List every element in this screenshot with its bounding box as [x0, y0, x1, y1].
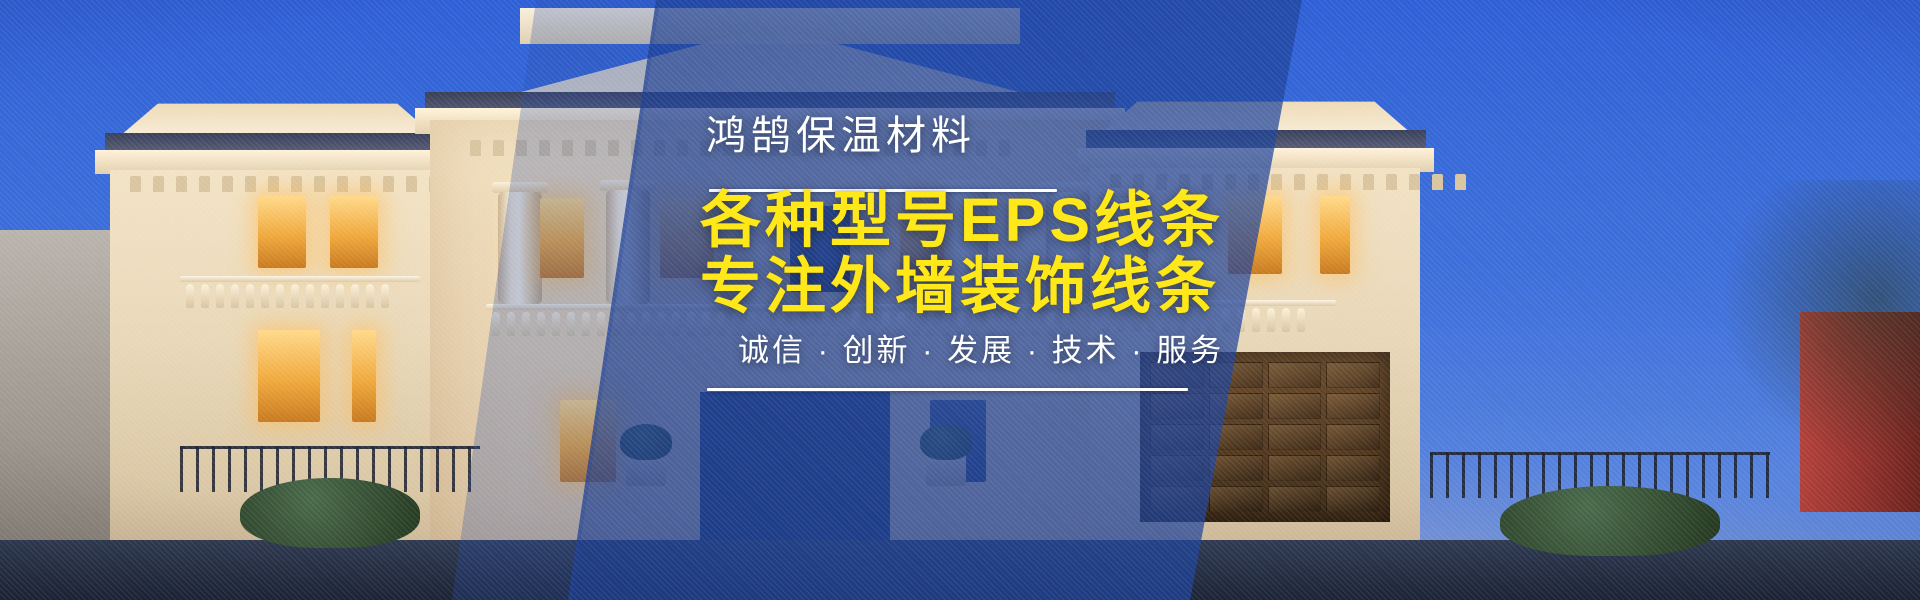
banner-content: 鸿鹄保温材料 各种型号EPS线条 专注外墙装饰线条 诚信 · 创新 · 发展 ·… — [0, 0, 1920, 600]
brand-name: 鸿鹄保温材料 — [706, 103, 976, 161]
divider-bottom — [707, 388, 1188, 391]
headline-line-2: 专注外墙装饰线条 — [700, 256, 1220, 317]
hero-banner: 鸿鹄保温材料 各种型号EPS线条 专注外墙装饰线条 诚信 · 创新 · 发展 ·… — [0, 0, 1920, 600]
headline-line-1: 各种型号EPS线条 — [700, 190, 1224, 251]
tagline: 诚信 · 创新 · 发展 · 技术 · 服务 — [738, 325, 1224, 370]
